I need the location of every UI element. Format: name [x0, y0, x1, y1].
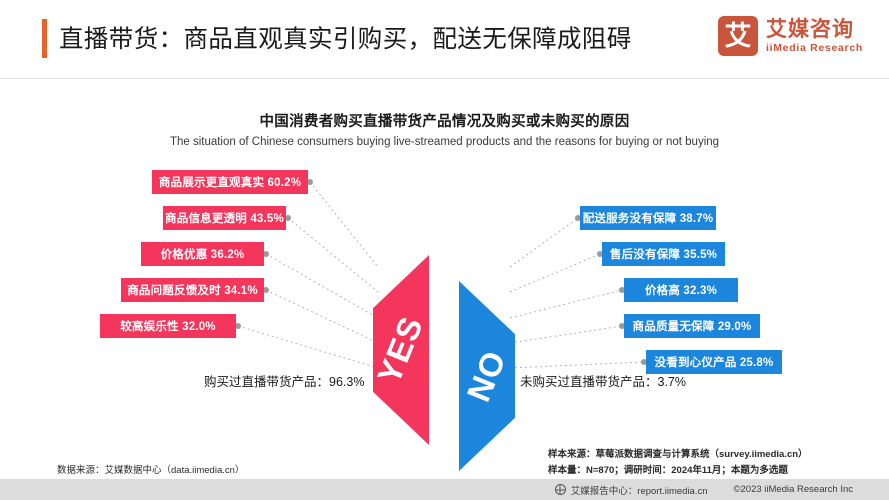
page-title: 直播带货：商品直观真实引购买，配送无保障成阻碍 [59, 20, 632, 55]
logo-mark-icon: 艾 [718, 16, 758, 56]
chart-title: 中国消费者购买直播带货产品情况及购买或未购买的原因 [0, 110, 889, 131]
sample-source-note: 样本来源：草莓派数据调查与计算系统（survey.iimedia.cn） [548, 446, 808, 460]
logo-text: 艾媒咨询 iiMedia Research [766, 19, 863, 54]
bar-yes-1[interactable]: 商品展示更直观真实 60.2% [152, 170, 308, 194]
slide-footer: 艾媒报告中心：report.iimedia.cn ©2023 iiMedia R… [0, 479, 889, 500]
logo-name-cn: 艾媒咨询 [766, 19, 863, 40]
title-accent-bar [42, 19, 47, 58]
report-center-link[interactable]: 艾媒报告中心：report.iimedia.cn [555, 483, 708, 497]
brand-logo: 艾 艾媒咨询 iiMedia Research [718, 16, 863, 56]
bar-yes-4[interactable]: 商品问题反馈及时 34.1% [121, 278, 264, 302]
yes-arrow-label: YES [370, 311, 431, 389]
bar-no-1[interactable]: 配送服务没有保障 38.7% [580, 206, 716, 230]
bar-yes-2[interactable]: 商品信息更透明 43.5% [163, 206, 286, 230]
sample-size-note: 样本量：N=870；调研时间：2024年11月；本题为多选题 [548, 462, 788, 476]
yes-arrow-shape: YES [373, 255, 429, 445]
slide-root: 直播带货：商品直观真实引购买，配送无保障成阻碍 艾 艾媒咨询 iiMedia R… [0, 0, 889, 500]
no-arrow-shape: NO [459, 281, 515, 471]
chart-body: 商品展示更直观真实 60.2% 商品信息更透明 43.5% 价格优惠 36.2%… [0, 155, 889, 435]
bar-no-4[interactable]: 商品质量无保障 29.0% [624, 314, 760, 338]
slide-header: 直播带货：商品直观真实引购买，配送无保障成阻碍 艾 艾媒咨询 iiMedia R… [0, 0, 889, 78]
bar-no-2[interactable]: 售后没有保障 35.5% [602, 242, 725, 266]
logo-name-en: iiMedia Research [766, 43, 863, 54]
bar-yes-3[interactable]: 价格优惠 36.2% [141, 242, 264, 266]
data-source-note: 数据来源：艾媒数据中心（data.iimedia.cn） [57, 462, 244, 476]
no-summary-text: 未购买过直播带货产品：3.7% [520, 371, 686, 390]
bar-no-3[interactable]: 价格高 32.3% [624, 278, 738, 302]
bar-yes-5[interactable]: 较高娱乐性 32.0% [100, 314, 236, 338]
yes-summary-text: 购买过直播带货产品：96.3% [204, 371, 364, 390]
globe-icon [555, 484, 566, 495]
header-divider [0, 78, 889, 79]
logo-mark-glyph: 艾 [725, 23, 752, 50]
report-center-label: 艾媒报告中心：report.iimedia.cn [571, 483, 708, 497]
no-arrow-label: NO [460, 345, 515, 407]
copyright-label: ©2023 iiMedia Research Inc [734, 484, 853, 495]
chart-subtitle: The situation of Chinese consumers buyin… [0, 136, 889, 148]
